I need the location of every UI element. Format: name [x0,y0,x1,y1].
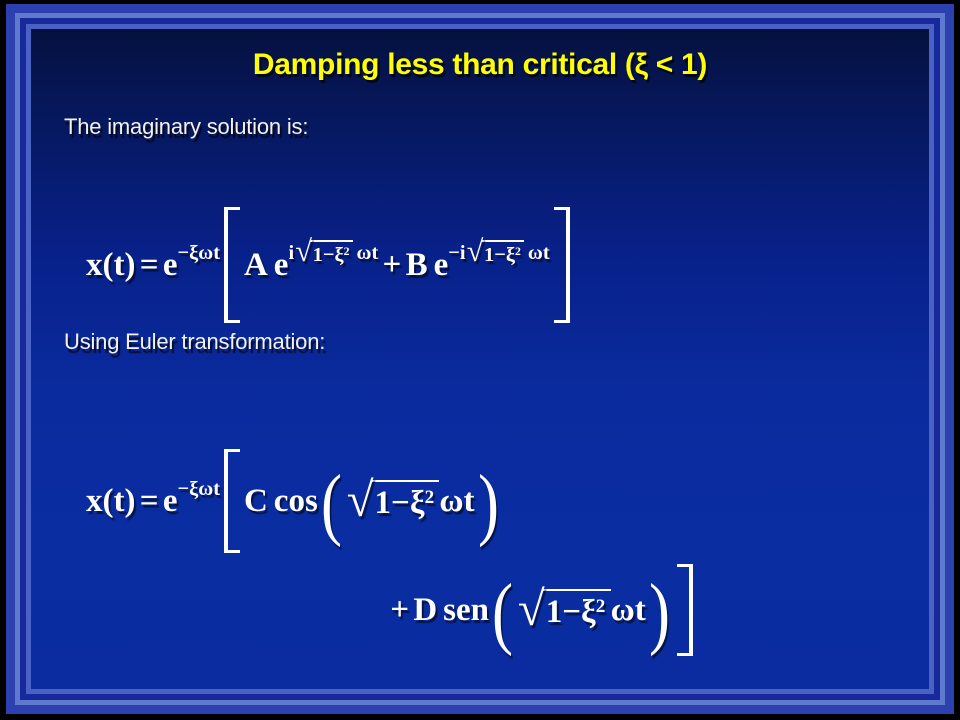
eq3-radicand-b: ξ [581,594,596,631]
eq1-term1-sqrt: √ 1 − ξ 2 [294,240,353,266]
eq1-term2-sqrt: √ 1 − ξ 2 [466,240,525,266]
eq3-radicand: 1 − ξ 2 [542,589,611,630]
eq2-radicand-minus: − [391,485,410,522]
eq3-paren-close: ) [649,590,670,635]
eq2-sqrt: √ 1 − ξ 2 [345,480,440,521]
eq3-radicand-minus: − [562,594,581,631]
eq2-radicand-pow: 2 [425,487,435,509]
eq2-paren-close: ) [477,481,498,526]
equation-euler-line1: x(t) = e −ξωt C cos ( √ 1 − ξ 2 [86,449,501,553]
eq1-term2-base: e [434,247,449,284]
eq1-term1-radicand-pow: 2 [344,244,350,259]
eq1-term2-radicand: 1 − ξ 2 [482,240,525,266]
eq3-bracket-close [677,564,693,656]
eq1-term2-exp-tail: ωt [528,242,550,265]
eq2-equals: = [135,483,162,520]
eq2-exponent: −ξωt [178,478,221,501]
eq2-paren-open: ( [321,481,342,526]
radical-sign: √ [295,241,312,267]
eq1-term2-exp-lead: −i [448,242,465,265]
eq1-term1-exponent: i √ 1 − ξ 2 ωt [288,240,378,266]
equation-imaginary-solution: x(t) = e −ξωt A e i √ 1 − ξ 2 [86,207,574,323]
eq1-term1-exp-tail: ωt [357,242,379,265]
radical-sign: √ [467,241,484,267]
eq1-base: e [163,247,178,284]
eq2-bracket-open [224,449,240,553]
eq3-radicand-pow: 2 [596,596,606,618]
eq3-sqrt: √ 1 − ξ 2 [516,589,611,630]
eq3-arg-tail: ωt [611,592,646,629]
eq3-radicand-a: 1 [546,594,563,631]
radical-sign: √ [518,591,545,632]
eq2-radicand-a: 1 [375,485,392,522]
eq1-equals: = [135,247,162,284]
eq1-term1-radicand-minus: − [323,244,335,267]
eq1-term1-radicand-b: ξ [335,244,344,267]
text-using-euler-transformation: Using Euler transformation: [64,329,325,355]
eq1-term1-radicand-a: 1 [313,244,323,267]
eq1-bracket-open [224,207,240,323]
eq3-paren-open: ( [492,590,513,635]
slide-content-panel: Damping less than critical (ξ < 1) The i… [31,29,929,689]
radical-sign: √ [347,482,374,523]
eq3-plus: + [386,592,413,629]
eq1-term2-coeff: B [406,247,428,284]
equation-euler-line2: + D sen ( √ 1 − ξ 2 ωt ) [386,564,697,656]
eq1-term2-exponent: −i √ 1 − ξ 2 ωt [448,240,549,266]
eq1-plus: + [378,247,405,284]
eq1-term1-base: e [274,247,289,284]
eq2-base: e [163,483,178,520]
eq1-term2-radicand-b: ξ [506,244,515,267]
eq3-function: sen [443,592,489,629]
eq3-coeff: D [413,592,437,629]
eq2-lhs: x(t) [86,483,135,520]
slide-root: Damping less than critical (ξ < 1) The i… [0,0,960,720]
eq1-bracket-close [554,207,570,323]
eq2-arg-tail: ωt [439,483,474,520]
eq1-term2-radicand-minus: − [494,244,506,267]
text-imaginary-solution: The imaginary solution is: [64,114,308,140]
eq2-radicand: 1 − ξ 2 [371,480,440,521]
eq1-term1-radicand: 1 − ξ 2 [310,240,353,266]
eq1-exponent: −ξωt [178,242,221,265]
eq1-term2-radicand-a: 1 [484,244,494,267]
eq1-lhs: x(t) [86,247,135,284]
slide-title: Damping less than critical (ξ < 1) [31,48,929,82]
eq1-term1-coeff: A [244,247,268,284]
eq2-radicand-b: ξ [410,485,425,522]
eq1-term2-radicand-pow: 2 [515,244,521,259]
eq2-function: cos [274,483,318,520]
eq2-coeff: C [244,483,268,520]
